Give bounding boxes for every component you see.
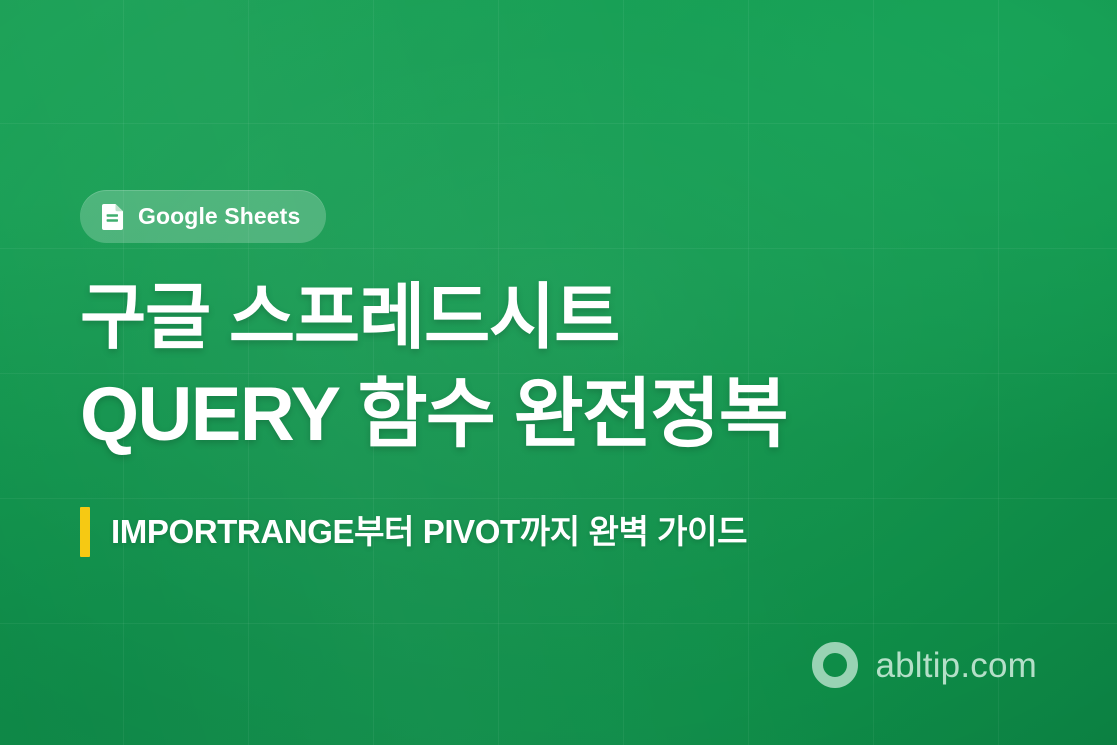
thumbnail-canvas: Google Sheets 구글 스프레드시트 QUERY 함수 완전정복 IM… xyxy=(0,0,1117,745)
ring-logo-icon xyxy=(812,642,858,688)
title-line-2: QUERY 함수 완전정복 xyxy=(80,366,980,465)
site-watermark: abltip.com xyxy=(812,642,1037,688)
title-line-1: 구글 스프레드시트 xyxy=(80,272,980,366)
content-area: Google Sheets 구글 스프레드시트 QUERY 함수 완전정복 IM… xyxy=(80,0,1040,745)
title-block: 구글 스프레드시트 QUERY 함수 완전정복 xyxy=(80,272,980,464)
category-badge-label: Google Sheets xyxy=(138,205,300,228)
subtitle-text: IMPORTRANGE부터 PIVOT까지 완벽 가이드 xyxy=(111,513,747,551)
site-watermark-text: abltip.com xyxy=(875,648,1037,683)
google-sheets-document-icon xyxy=(102,204,124,230)
subtitle-row: IMPORTRANGE부터 PIVOT까지 완벽 가이드 xyxy=(80,507,747,557)
category-badge: Google Sheets xyxy=(80,190,326,243)
subtitle-accent-bar xyxy=(80,507,90,557)
